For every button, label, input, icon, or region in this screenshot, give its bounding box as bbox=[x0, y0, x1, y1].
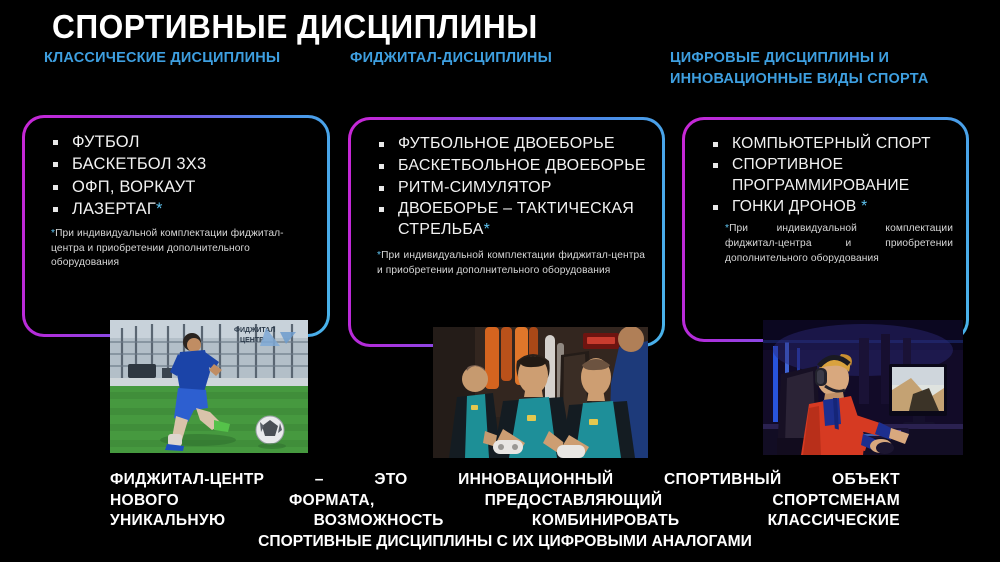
esports-team-illustration bbox=[433, 327, 648, 458]
list-item[interactable]: ДВОЕБОРЬЕ – ТАКТИЧЕСКАЯ СТРЕЛЬБА* bbox=[377, 199, 648, 241]
list-item[interactable]: ФУТБОЛЬНОЕ ДВОЕБОРЬЕ bbox=[377, 134, 648, 155]
list-item[interactable]: БАСКЕТБОЛ 3Х3 bbox=[51, 154, 313, 175]
list-item-label: ЛАЗЕРТАГ bbox=[72, 200, 156, 218]
list-item-label: РИТМ-СИМУЛЯТОР bbox=[398, 179, 552, 196]
football-player-illustration: ФИДЖИТАЛ ЦЕНТР bbox=[110, 320, 308, 453]
svg-text:ЦЕНТР: ЦЕНТР bbox=[240, 337, 264, 344]
footnote-text: При индивидуальной комплектации фиджитал… bbox=[51, 228, 284, 269]
list-item[interactable]: СПОРТИВНОЕ ПРОГРАММИРОВАНИЕ bbox=[711, 155, 952, 196]
card-inner: ФУТБОЛЬНОЕ ДВОЕБОРЬЕ БАСКЕТБОЛЬНОЕ ДВОЕБ… bbox=[351, 120, 662, 344]
football-player-photo: ФИДЖИТАЛ ЦЕНТР bbox=[110, 320, 308, 453]
list-item[interactable]: КОМПЬЮТЕРНЫЙ СПОРТ bbox=[711, 134, 952, 154]
list-item[interactable]: ГОНКИ ДРОНОВ * bbox=[711, 197, 952, 217]
footer-line: ФИДЖИТАЛ-ЦЕНТР – ЭТО ИННОВАЦИОННЫЙ СПОРТ… bbox=[110, 470, 900, 491]
asterisk-marker: * bbox=[861, 198, 867, 215]
card-inner: ФУТБОЛ БАСКЕТБОЛ 3Х3 ОФП, ВОРКАУТ ЛАЗЕРТ… bbox=[25, 118, 327, 334]
list-item-label: ФУТБОЛЬНОЕ ДВОЕБОРЬЕ bbox=[398, 135, 615, 152]
page-title: СПОРТИВНЫЕ ДИСЦИПЛИНЫ bbox=[52, 8, 538, 46]
discipline-list-classic: ФУТБОЛ БАСКЕТБОЛ 3Х3 ОФП, ВОРКАУТ ЛАЗЕРТ… bbox=[51, 132, 313, 221]
asterisk-marker: * bbox=[156, 200, 163, 218]
discipline-card-classic[interactable]: ФУТБОЛ БАСКЕТБОЛ 3Х3 ОФП, ВОРКАУТ ЛАЗЕРТ… bbox=[22, 115, 330, 337]
list-item-label: БАСКЕТБОЛЬНОЕ ДВОЕБОРЬЕ bbox=[398, 157, 646, 174]
footer-paragraph: ФИДЖИТАЛ-ЦЕНТР – ЭТО ИННОВАЦИОННЫЙ СПОРТ… bbox=[110, 470, 900, 553]
footer-line: УНИКАЛЬНУЮ ВОЗМОЖНОСТЬ КОМБИНИРОВАТЬ КЛА… bbox=[110, 511, 900, 532]
list-item[interactable]: БАСКЕТБОЛЬНОЕ ДВОЕБОРЬЕ bbox=[377, 156, 648, 177]
footnote-classic: *При индивидуальной комплектации фиджита… bbox=[51, 227, 303, 271]
footnote-phygital: *При индивидуальной комплектации фиджита… bbox=[377, 249, 645, 279]
list-item[interactable]: РИТМ-СИМУЛЯТОР bbox=[377, 178, 648, 199]
list-item-label: КОМПЬЮТЕРНЫЙ СПОРТ bbox=[732, 135, 931, 152]
list-item[interactable]: ОФП, ВОРКАУТ bbox=[51, 177, 313, 198]
cybersport-gamer-illustration: FIGHT CLUB bbox=[763, 320, 963, 455]
footnote-digital: *При индивидуальной комплектации фиджита… bbox=[725, 222, 953, 266]
list-item-label: ГОНКИ ДРОНОВ bbox=[732, 198, 857, 215]
list-item[interactable]: ФУТБОЛ bbox=[51, 132, 313, 153]
list-item-label: СПОРТИВНОЕ ПРОГРАММИРОВАНИЕ bbox=[732, 156, 909, 193]
list-item-label: БАСКЕТБОЛ 3Х3 bbox=[72, 155, 206, 173]
discipline-list-digital: КОМПЬЮТЕРНЫЙ СПОРТ СПОРТИВНОЕ ПРОГРАММИР… bbox=[711, 134, 952, 217]
list-item-label: ДВОЕБОРЬЕ – ТАКТИЧЕСКАЯ СТРЕЛЬБА bbox=[398, 200, 634, 238]
footer-line: НОВОГО ФОРМАТА, ПРЕДОСТАВЛЯЮЩИЙ СПОРТСМЕ… bbox=[110, 491, 900, 512]
discipline-card-digital[interactable]: КОМПЬЮТЕРНЫЙ СПОРТ СПОРТИВНОЕ ПРОГРАММИР… bbox=[682, 117, 969, 342]
column-heading-classic: КЛАССИЧЕСКИЕ ДИСЦИПЛИНЫ bbox=[44, 48, 304, 69]
cybersport-gamer-photo: FIGHT CLUB bbox=[763, 320, 963, 455]
list-item-label: ФУТБОЛ bbox=[72, 133, 140, 151]
asterisk-marker: * bbox=[484, 221, 490, 238]
card-inner: КОМПЬЮТЕРНЫЙ СПОРТ СПОРТИВНОЕ ПРОГРАММИР… bbox=[685, 120, 966, 339]
list-item[interactable]: ЛАЗЕРТАГ* bbox=[51, 199, 313, 220]
footer-line: СПОРТИВНЫЕ ДИСЦИПЛИНЫ С ИХ ЦИФРОВЫМИ АНА… bbox=[110, 532, 900, 553]
footnote-text: При индивидуальной комплектации фиджитал… bbox=[725, 223, 953, 264]
column-heading-phygital: ФИДЖИТАЛ-ДИСЦИПЛИНЫ bbox=[350, 48, 610, 69]
esports-team-photo bbox=[433, 327, 648, 458]
column-heading-digital: ЦИФРОВЫЕ ДИСЦИПЛИНЫ И ИННОВАЦИОННЫЕ ВИДЫ… bbox=[670, 48, 975, 90]
footnote-text: При индивидуальной комплектации фиджитал… bbox=[377, 250, 645, 276]
list-item-label: ОФП, ВОРКАУТ bbox=[72, 178, 196, 196]
discipline-list-phygital: ФУТБОЛЬНОЕ ДВОЕБОРЬЕ БАСКЕТБОЛЬНОЕ ДВОЕБ… bbox=[377, 134, 648, 241]
discipline-card-phygital[interactable]: ФУТБОЛЬНОЕ ДВОЕБОРЬЕ БАСКЕТБОЛЬНОЕ ДВОЕБ… bbox=[348, 117, 665, 347]
